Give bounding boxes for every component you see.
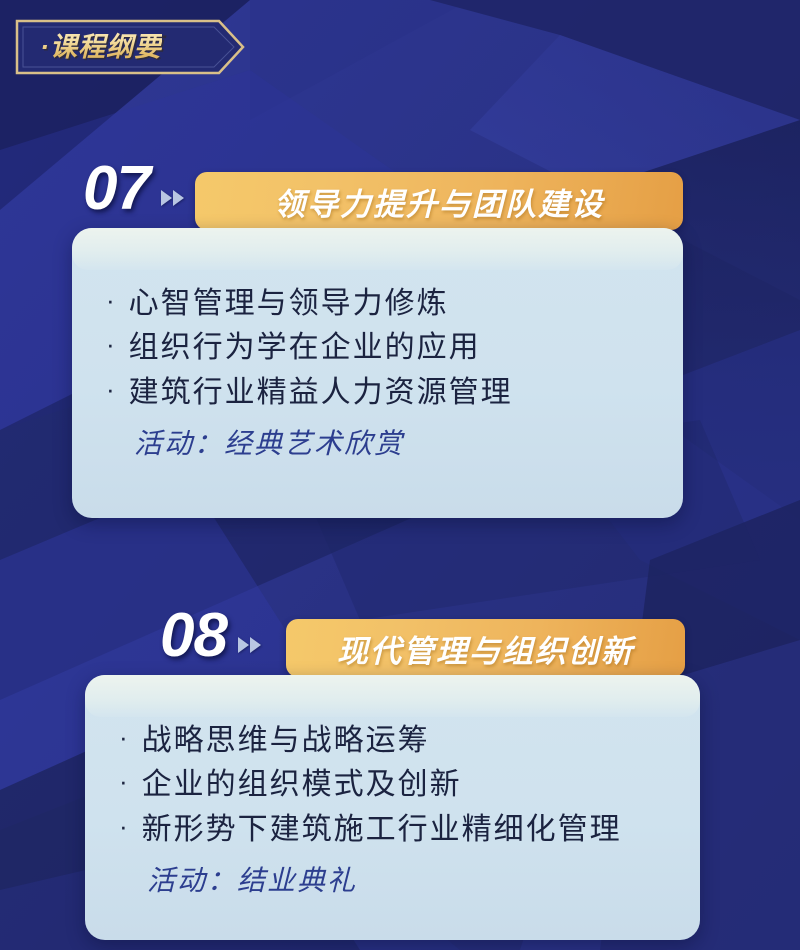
bullet-text: 组织行为学在企业的应用 <box>129 330 481 365</box>
triangle-1 <box>161 190 172 206</box>
section-title-07: 领导力提升与团队建设 <box>274 179 604 224</box>
list-item: · 组织行为学在企业的应用 <box>106 330 663 365</box>
bullet-marker: · <box>106 287 115 313</box>
bullet-text: 建筑行业精益人力资源管理 <box>129 375 513 410</box>
double-triangle-right-icon <box>161 190 184 206</box>
bullet-text: 新形势下建筑施工行业精细化管理 <box>142 812 622 847</box>
section-title-bar-07[interactable]: 领导力提升与团队建设 <box>195 172 683 230</box>
section-number-07: 07 <box>83 158 150 220</box>
bullet-marker: · <box>119 768 128 794</box>
course-outline-poster: ·课程纲要 ·课程纲要 07 领导力提升与团队建设 · 心智管理与领导力修炼 ·… <box>0 0 800 950</box>
bullet-marker: · <box>119 724 128 750</box>
card-sheen-07 <box>72 228 683 270</box>
section-card-07: · 心智管理与领导力修炼 · 组织行为学在企业的应用 · 建筑行业精益人力资源管… <box>72 228 683 518</box>
list-item: · 企业的组织模式及创新 <box>119 767 680 802</box>
section-header-badge: ·课程纲要 ·课程纲要 <box>14 18 246 76</box>
list-item: · 建筑行业精益人力资源管理 <box>106 375 663 410</box>
bullet-text: 心智管理与领导力修炼 <box>129 286 449 321</box>
section-title-bar-08[interactable]: 现代管理与组织创新 <box>286 619 685 677</box>
badge-label: ·课程纲要 <box>40 18 162 76</box>
triangle-2 <box>250 637 261 653</box>
section-number-08: 08 <box>160 605 227 667</box>
list-item: · 战略思维与战略运筹 <box>119 723 680 758</box>
bullet-marker: · <box>106 331 115 357</box>
bullet-text: 战略思维与战略运筹 <box>142 723 430 758</box>
triangle-1 <box>238 637 249 653</box>
list-item: · 心智管理与领导力修炼 <box>106 286 663 321</box>
section-title-08: 现代管理与组织创新 <box>337 626 634 671</box>
list-item: · 新形势下建筑施工行业精细化管理 <box>119 812 680 847</box>
activity-text-08: 活动：结业典礼 <box>147 859 680 899</box>
triangle-2 <box>173 190 184 206</box>
bullet-marker: · <box>119 813 128 839</box>
bullet-list-07: · 心智管理与领导力修炼 · 组织行为学在企业的应用 · 建筑行业精益人力资源管… <box>106 286 663 462</box>
double-triangle-right-icon <box>238 637 261 653</box>
section-card-08: · 战略思维与战略运筹 · 企业的组织模式及创新 · 新形势下建筑施工行业精细化… <box>85 675 700 940</box>
bullet-marker: · <box>106 376 115 402</box>
card-sheen-08 <box>85 675 700 717</box>
bullet-text: 企业的组织模式及创新 <box>142 767 462 802</box>
activity-text-07: 活动：经典艺术欣赏 <box>134 422 663 462</box>
bullet-list-08: · 战略思维与战略运筹 · 企业的组织模式及创新 · 新形势下建筑施工行业精细化… <box>119 723 680 899</box>
